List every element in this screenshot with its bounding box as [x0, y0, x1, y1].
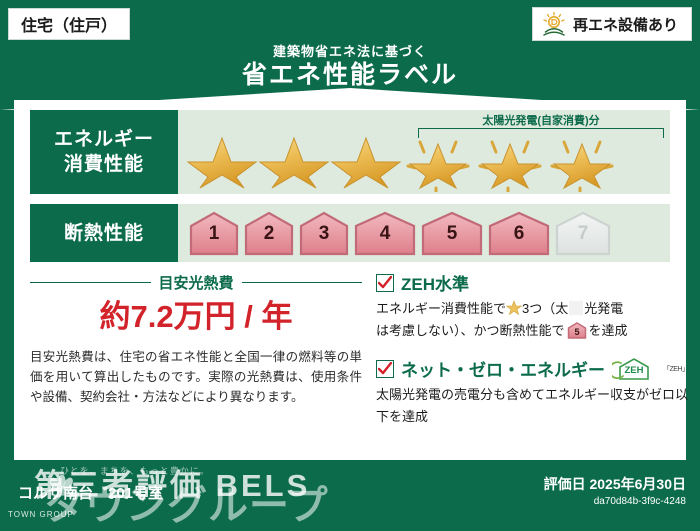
solar-sun-icon — [541, 11, 567, 37]
insulation-badge-5: 5 — [420, 210, 484, 256]
net-zero-title: ネット・ゼロ・エネルギー — [401, 356, 605, 381]
evaluation-date: 評価日 2025年6月30日 — [544, 474, 686, 494]
insulation-badge-4-number: 4 — [353, 223, 417, 245]
insulation-badge-1: 1 — [188, 210, 240, 256]
label-header: 建築物省エネ法に基づく 省エネ性能ラベル — [0, 42, 700, 94]
evaluation-id: da70d84b-3f9c-4248 — [544, 494, 686, 509]
housing-type-label: 住宅（住戸） — [21, 12, 117, 36]
checkmark-icon-net-zero — [376, 360, 394, 378]
energy-star-6-solar — [546, 130, 618, 192]
zeh-house-logo-icon: ZEH — [612, 357, 656, 381]
zeh-body-text-3: 光発電 — [584, 301, 623, 316]
energy-star-5-solar — [474, 130, 546, 192]
zeh-logo-caption: 「ZEH」 — [663, 364, 689, 374]
inline-star-icon — [506, 300, 522, 316]
svg-text:ZEH: ZEH — [625, 365, 644, 376]
insulation-category-label: 断熱性能 — [64, 221, 144, 246]
watermark-leaf-icon — [48, 475, 74, 497]
utility-cost-title: 目安光熱費 — [159, 272, 234, 293]
housing-type-tag: 住宅（住戸） — [8, 8, 130, 40]
zeh-body-text-5: を達成 — [589, 323, 628, 338]
insulation-badge-5-number: 5 — [420, 223, 484, 245]
zeh-standard-body: エネルギー消費性能で3つ（太光発電は考慮しない）、かつ断熱性能で5を達成 — [376, 298, 689, 342]
energy-performance-category: エネルギー 消費性能 — [30, 110, 178, 194]
energy-star-3 — [330, 130, 402, 192]
net-zero-body: 太陽光発電の売電分も含めてエネルギー収支がゼロ以下を達成 — [376, 384, 689, 428]
insulation-badge-2: 2 — [243, 210, 295, 256]
utility-cost-title-row: 目安光熱費 — [30, 272, 362, 293]
energy-label-root: 住宅（住戸） 再エネ設備あり 建築物省エネ法に基づく 省エネ性能ラベル — [0, 0, 700, 523]
zeh-standard-header: ZEH水準 — [376, 270, 689, 295]
insulation-badges-container: 1 2 3 4 — [178, 204, 670, 262]
inline-insulation-grade-badge: 5 — [567, 322, 587, 339]
energy-performance-row: エネルギー 消費性能 太陽光発電(自家消費)分 — [30, 110, 670, 194]
insulation-performance-row: 断熱性能 — [30, 204, 670, 262]
energy-stars-container: 太陽光発電(自家消費)分 — [178, 110, 670, 194]
solar-annotation-bracket — [418, 128, 664, 138]
panel-columns: 目安光熱費 約7.2万円 / 年 目安光熱費は、住宅の省エネ性能と全国一律の燃料… — [30, 270, 670, 454]
cost-title-rule-left — [30, 282, 151, 284]
energy-star-2 — [258, 130, 330, 192]
insulation-badge-3-number: 3 — [298, 223, 350, 245]
net-zero-header: ネット・ゼロ・エネルギー ZEH 「ZEH」 — [376, 356, 689, 381]
energy-category-line2: 消費性能 — [64, 152, 144, 177]
cost-title-rule-right — [242, 282, 363, 284]
zeh-body-text-2: 3つ（太 — [522, 301, 568, 316]
energy-star-4-solar — [402, 130, 474, 192]
label-footer: コルザ南台 201号室 評価日 2025年6月30日 da70d84b-3f9c… — [0, 460, 700, 523]
zeh-body-text-1: エネルギー消費性能で — [376, 301, 506, 316]
checkmark-icon-zeh-standard — [376, 274, 394, 292]
main-panel: エネルギー 消費性能 太陽光発電(自家消費)分 — [14, 100, 686, 460]
label-title: 省エネ性能ラベル — [0, 60, 700, 90]
zeh-standard-block: ZEH水準 エネルギー消費性能で3つ（太光発電は考慮しない）、かつ断熱性能で5を… — [376, 270, 689, 342]
renewable-energy-badge: 再エネ設備あり — [532, 7, 692, 41]
insulation-badge-4: 4 — [353, 210, 417, 256]
redacted-character-block — [569, 301, 583, 315]
zeh-body-text-4: は考慮しない）、かつ断熱性能で — [376, 323, 565, 338]
utility-cost-column: 目安光熱費 約7.2万円 / 年 目安光熱費は、住宅の省エネ性能と全国一律の燃料… — [30, 270, 362, 454]
renewable-energy-label: 再エネ設備あり — [573, 14, 678, 35]
insulation-badge-6: 6 — [487, 210, 551, 256]
insulation-badge-7-number: 7 — [554, 223, 612, 245]
zeh-standard-title: ZEH水準 — [401, 270, 469, 295]
utility-cost-value: 約7.2万円 / 年 — [30, 295, 362, 339]
insulation-badge-3: 3 — [298, 210, 350, 256]
svg-text:5: 5 — [574, 327, 579, 337]
footer-meta: 評価日 2025年6月30日 da70d84b-3f9c-4248 — [544, 474, 686, 509]
insulation-badge-1-number: 1 — [188, 223, 240, 245]
solar-annotation-label: 太陽光発電(自家消費)分 — [418, 112, 664, 128]
net-zero-block: ネット・ゼロ・エネルギー ZEH 「ZEH」 太陽光発電の売電分も含めてエネルギ… — [376, 356, 689, 428]
property-name: コルザ南台 201号室 — [18, 482, 163, 503]
zeh-column: ZEH水準 エネルギー消費性能で3つ（太光発電は考慮しない）、かつ断熱性能で5を… — [362, 270, 689, 454]
insulation-badge-6-number: 6 — [487, 223, 551, 245]
energy-category-line1: エネルギー — [54, 127, 154, 152]
insulation-badge-7: 7 — [554, 210, 612, 256]
utility-cost-note: 目安光熱費は、住宅の省エネ性能と全国一律の燃料等の単価を用いて算出したものです。… — [30, 347, 362, 407]
energy-star-1 — [186, 130, 258, 192]
label-subtitle: 建築物省エネ法に基づく — [0, 42, 700, 60]
insulation-badge-2-number: 2 — [243, 223, 295, 245]
insulation-performance-category: 断熱性能 — [30, 204, 178, 262]
